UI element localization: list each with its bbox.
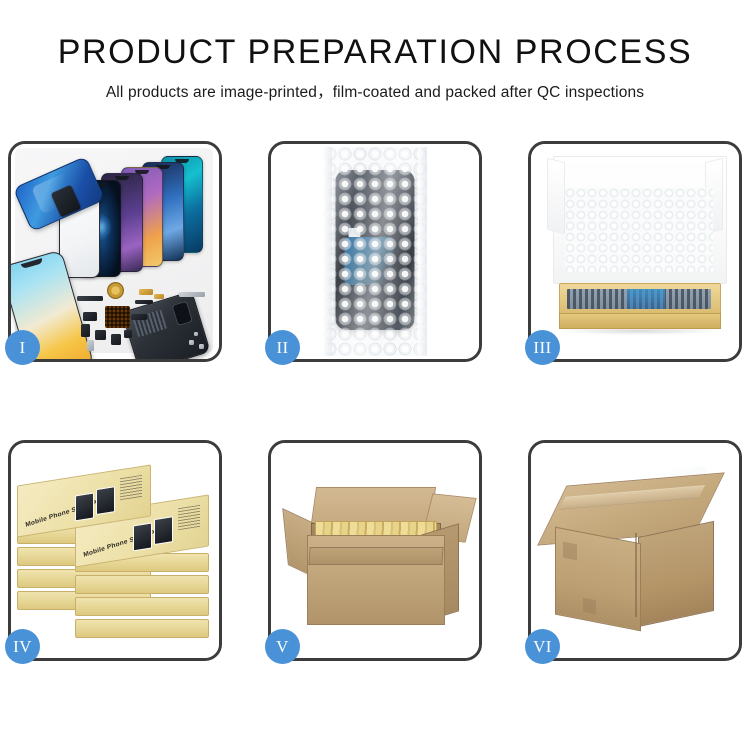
spare-part-ic-array (105, 306, 130, 328)
step-5-image (271, 443, 479, 658)
process-step-panel-6: VI (528, 440, 742, 661)
retail-box-right-layer-5 (75, 619, 209, 638)
spare-part-screw-a (189, 340, 194, 345)
box-window-phone-a-right (133, 522, 152, 551)
box-window-phone-b-left (96, 486, 115, 515)
process-step-panel-5: V (268, 440, 482, 661)
step-badge-4: IV (5, 629, 40, 664)
box-window-phone-a-left (75, 492, 94, 521)
sleeve-seal-right (418, 147, 427, 356)
process-step-panel-1: I (8, 141, 222, 362)
foam-liner (565, 188, 713, 272)
spare-part-gold-connector (139, 289, 153, 295)
step-badge-1: I (5, 330, 40, 365)
spare-part-speaker-coil (107, 282, 124, 299)
spare-part-antenna (131, 314, 147, 320)
spare-part-camera (111, 334, 121, 345)
spare-part-module-b (81, 324, 90, 337)
step-2-image (271, 144, 479, 359)
step-1-image (11, 144, 219, 359)
spare-part-sensor (124, 330, 132, 338)
carton-panel-tab-lower (583, 598, 596, 615)
step-badge-2: II (265, 330, 300, 365)
header: PRODUCT PREPARATION PROCESS All products… (0, 0, 750, 102)
carton-panel-tab-upper (563, 542, 577, 561)
step-badge-5: V (265, 629, 300, 664)
plastic-sheen-overlay (323, 147, 427, 356)
spare-part-screw-b (199, 344, 204, 349)
spare-part-module-c (95, 330, 106, 340)
infographic-page: PRODUCT PREPARATION PROCESS All products… (0, 0, 750, 750)
spare-part-ribbon-cable (135, 300, 153, 304)
mailer-box-front-wall (559, 313, 721, 329)
carton-flap-front (308, 547, 443, 565)
step-badge-3: III (525, 330, 560, 365)
step-badge-6: VI (525, 629, 560, 664)
spare-part-gold-contact (154, 294, 164, 299)
sleeve-seal-left (323, 147, 332, 356)
step-3-image (531, 144, 739, 359)
spare-part-metal-bracket (87, 340, 94, 351)
process-step-panel-3: III (528, 141, 742, 362)
spare-part-tool-tweezers (179, 292, 205, 297)
retail-box-right-layer-3 (75, 575, 209, 594)
process-step-panel-4: Mobile Phone Spare Parts Mobile Phone Sp… (8, 440, 222, 661)
step-6-image (531, 443, 739, 658)
box-spec-lines-left (120, 475, 142, 500)
box-spec-lines-right (178, 505, 200, 530)
page-subtitle: All products are image-printed，film-coat… (0, 80, 750, 102)
sealed-carton-side (638, 521, 714, 627)
spare-part-screw-c (194, 332, 198, 336)
spare-part-flex-strip (77, 296, 103, 301)
camera-module-icon (171, 301, 193, 327)
mailer-lid-flap-left (547, 158, 565, 234)
wrapped-units-in-box (567, 289, 711, 309)
page-title: PRODUCT PREPARATION PROCESS (0, 34, 750, 71)
retail-box-right-layer-4 (75, 597, 209, 616)
spare-part-module-a (83, 312, 97, 321)
retail-box-stack: Mobile Phone Spare Parts Mobile Phone Sp… (11, 443, 219, 658)
carton-corner-seam (635, 533, 637, 617)
notch-icon (115, 176, 129, 180)
process-step-panel-2: II (268, 141, 482, 362)
step-4-image: Mobile Phone Spare Parts Mobile Phone Sp… (11, 443, 219, 658)
box-window-phone-b-right (154, 516, 173, 545)
process-step-grid: I II (8, 141, 742, 661)
